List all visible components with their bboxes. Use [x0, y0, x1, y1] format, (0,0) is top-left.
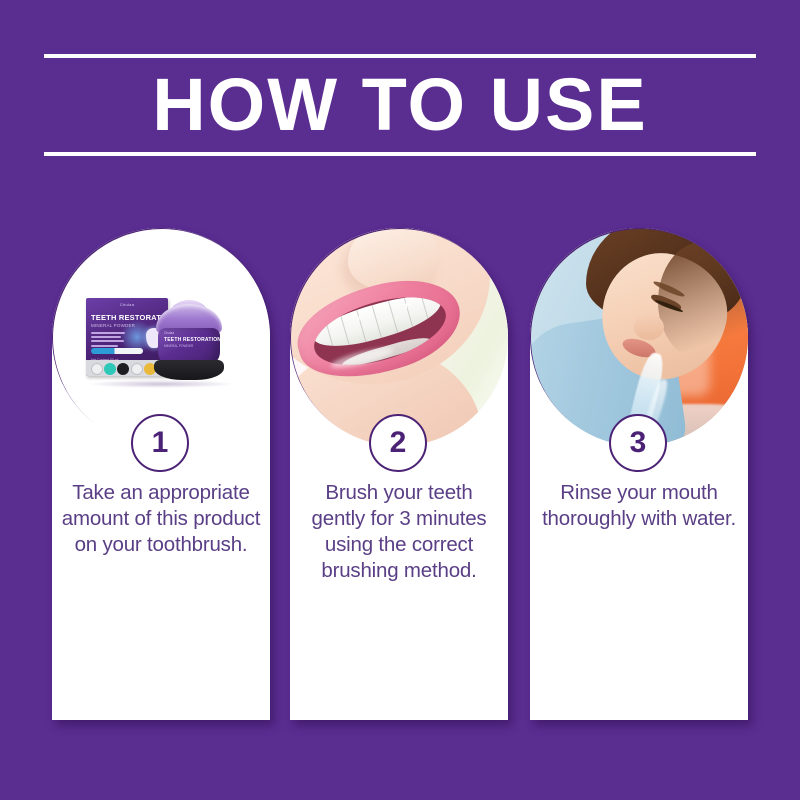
product-box-badge	[91, 348, 143, 354]
step-number-badge-3: 3	[609, 414, 667, 472]
step-caption-3: Rinse your mouth thoroughly with water.	[538, 480, 740, 532]
product-image: Chulaa TEETH RESTORATION MINERAL POWDER …	[78, 290, 244, 386]
title-rule-bottom	[44, 152, 756, 156]
sparkle-icon	[356, 316, 362, 322]
jar-title: TEETH RESTORATION	[164, 337, 220, 343]
header: HOW TO USE	[44, 54, 756, 158]
step-caption-1: Take an appropriate amount of this produ…	[60, 480, 262, 558]
certification-icon-1	[91, 363, 103, 375]
product-box-feature-lines	[91, 332, 129, 349]
jar-subtitle: MINERAL POWDER	[164, 344, 193, 348]
step-number-badge-2: 2	[369, 414, 427, 472]
product-jar: Chulaa TEETH RESTORATION MINERAL POWDER	[152, 304, 228, 380]
certification-icon-3	[117, 363, 129, 375]
step-card-2[interactable]: 2 Brush your teeth gently for 3 minutes …	[290, 228, 508, 720]
step-card-1[interactable]: Chulaa TEETH RESTORATION MINERAL POWDER …	[52, 228, 270, 720]
how-to-use-poster: HOW TO USE Chulaa TEETH RESTORATION MINE…	[0, 0, 800, 800]
step-card-3[interactable]: 3 Rinse your mouth thoroughly with water…	[530, 228, 748, 720]
page-title: HOW TO USE	[44, 58, 756, 152]
sparkle-icon	[402, 300, 411, 309]
steps-row: Chulaa TEETH RESTORATION MINERAL POWDER …	[52, 228, 748, 720]
step-number-badge-1: 1	[131, 414, 189, 472]
product-shadow	[88, 380, 234, 388]
certification-icon-2	[104, 363, 116, 375]
certification-icon-4	[131, 363, 143, 375]
jar-base	[154, 360, 224, 380]
jar-brand: Chulaa	[164, 331, 174, 335]
step-caption-2: Brush your teeth gently for 3 minutes us…	[298, 480, 500, 584]
